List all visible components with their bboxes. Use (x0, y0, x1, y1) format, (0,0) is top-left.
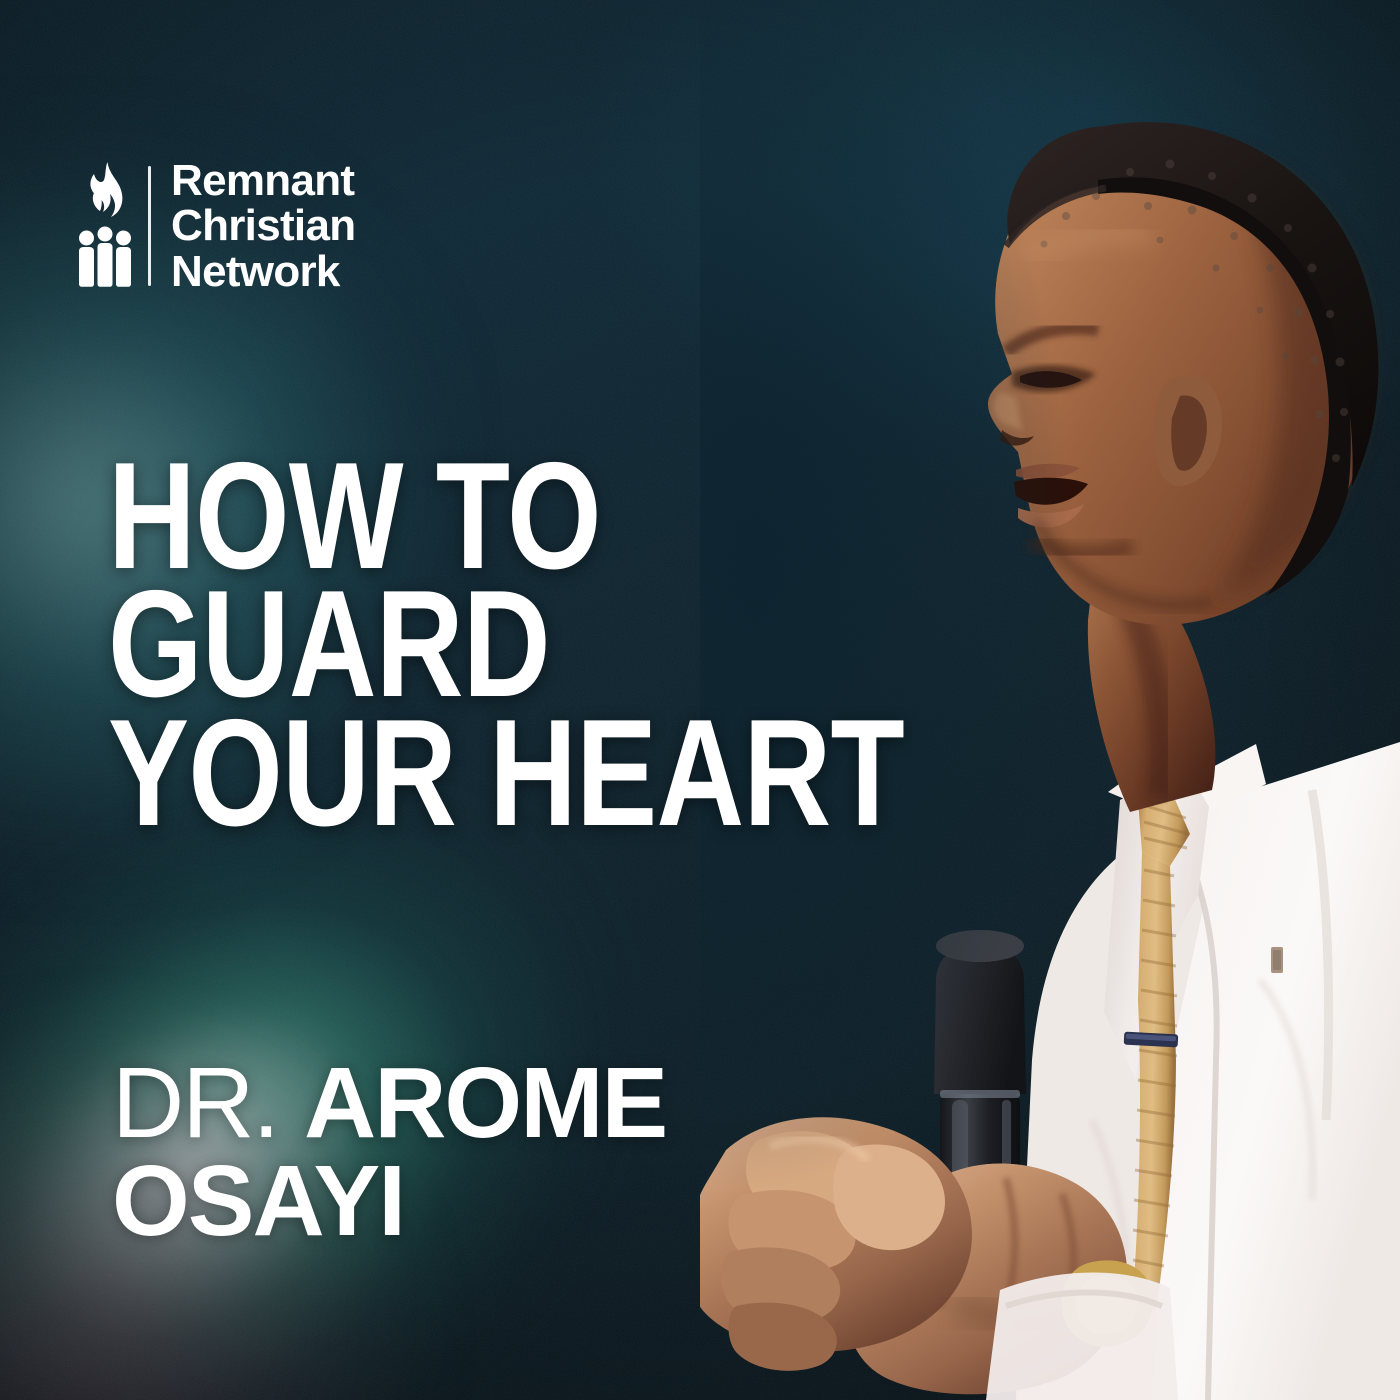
podcast-cover-art: Remnant Christian Network HOW TO GUARD Y… (0, 0, 1400, 1400)
brand-logo-lockup[interactable]: Remnant Christian Network (76, 160, 355, 294)
speaker-honorific: DR. (112, 1047, 304, 1159)
brand-name: Remnant Christian Network (171, 158, 355, 294)
episode-title: HOW TO GUARD YOUR HEART (108, 452, 1103, 837)
brand-name-line-1: Remnant (171, 158, 355, 203)
speaker-name-line-2: OSAYI (112, 1156, 666, 1246)
speaker-first-name: AROME (304, 1047, 666, 1159)
flame-over-three-people-icon (76, 160, 134, 288)
speaker-name: DR. AROME OSAYI (112, 1058, 666, 1246)
logo-divider-rule (148, 166, 151, 286)
episode-title-line-3: YOUR HEART (108, 709, 904, 837)
speaker-last-name: OSAYI (112, 1145, 404, 1257)
brand-name-line-2: Christian (171, 203, 355, 248)
speaker-name-line-1: DR. AROME (112, 1058, 666, 1148)
brand-name-line-3: Network (171, 249, 355, 294)
